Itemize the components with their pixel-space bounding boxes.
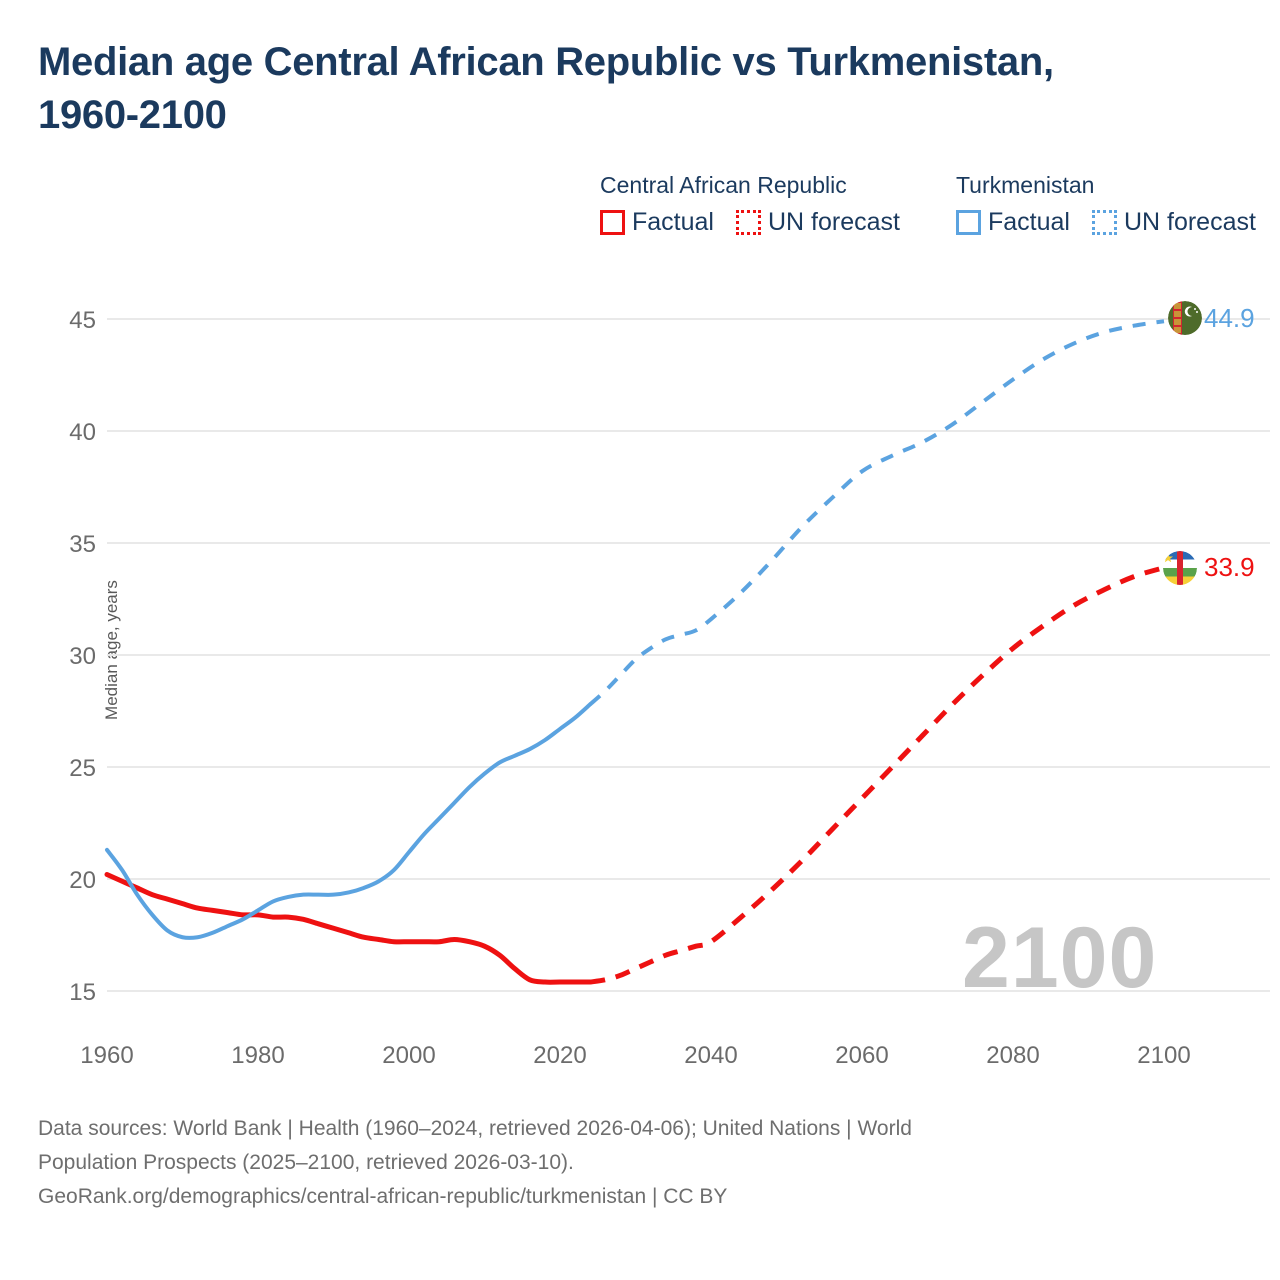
x-tick-label: 2100 xyxy=(1137,1042,1190,1069)
footer-line-3: GeoRank.org/demographics/central-african… xyxy=(38,1180,1238,1214)
y-tick-labels: 15202530354045 xyxy=(69,307,96,1006)
x-tick-label: 1980 xyxy=(231,1042,284,1069)
x-tick-labels: 19601980200020202040206020802100 xyxy=(80,1042,1190,1069)
y-tick-label: 30 xyxy=(69,643,96,670)
x-tick-label: 2080 xyxy=(986,1042,1039,1069)
turkmenistan-end-value: 44.9 xyxy=(1204,303,1255,334)
grid-lines xyxy=(107,319,1270,991)
footer-sources: Data sources: World Bank | Health (1960–… xyxy=(38,1112,1238,1214)
chart-root: Median age Central African Republic vs T… xyxy=(0,0,1280,1280)
y-tick-label: 20 xyxy=(69,867,96,894)
series-lines xyxy=(107,321,1164,982)
series-line-forecast xyxy=(590,321,1164,704)
turkmenistan-flag-icon xyxy=(1168,301,1202,335)
x-tick-label: 2040 xyxy=(684,1042,737,1069)
footer-line-1: Data sources: World Bank | Health (1960–… xyxy=(38,1112,1238,1146)
x-tick-label: 1960 xyxy=(80,1042,133,1069)
x-tick-label: 2060 xyxy=(835,1042,888,1069)
central-african-republic-end-value: 33.9 xyxy=(1204,552,1255,583)
x-tick-label: 2000 xyxy=(382,1042,435,1069)
y-tick-label: 35 xyxy=(69,531,96,558)
y-tick-label: 25 xyxy=(69,755,96,782)
x-tick-label: 2020 xyxy=(533,1042,586,1069)
year-watermark: 2100 xyxy=(962,915,1157,1001)
central-african-republic-flag-icon xyxy=(1163,551,1197,585)
footer-line-2: Population Prospects (2025–2100, retriev… xyxy=(38,1146,1238,1180)
y-tick-label: 40 xyxy=(69,419,96,446)
y-tick-label: 15 xyxy=(69,979,96,1006)
y-tick-label: 45 xyxy=(69,307,96,334)
